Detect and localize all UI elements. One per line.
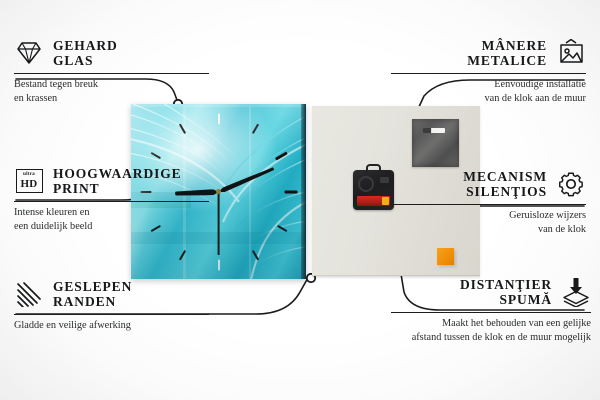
feature-title-line1: GESLEPEN bbox=[53, 279, 132, 294]
feature-desc-line2: van de klok bbox=[538, 224, 586, 235]
feature-description: Intense kleuren en een duidelijk beeld bbox=[14, 206, 209, 234]
clock-mechanism-box bbox=[353, 170, 394, 210]
feature-title: DISTANŢIER SPUMĂ bbox=[460, 277, 552, 307]
feature-header: ultra HD HOOGWAARDIGE PRINT bbox=[14, 164, 209, 198]
beveled-edges-icon bbox=[14, 279, 44, 309]
feature-mecanism-silentios: MECANISM SILENŢIOS Geruisloze wijzers va… bbox=[391, 167, 586, 237]
feature-hoogwaardige-print: ultra HD HOOGWAARDIGE PRINT Intense kleu… bbox=[14, 164, 209, 234]
gear-icon bbox=[556, 169, 586, 199]
tick-mark-6 bbox=[218, 259, 220, 270]
feature-title-line2: GLAS bbox=[53, 53, 93, 68]
feature-desc-line1: Maakt het behouden van een gelijke bbox=[442, 318, 591, 329]
feature-title: MÂNERE METALICE bbox=[467, 38, 547, 68]
foam-spacer bbox=[437, 248, 454, 265]
battery-terminal bbox=[382, 197, 389, 205]
feature-header: DISTANŢIER SPUMĂ bbox=[391, 275, 591, 309]
feature-desc-line1: Geruisloze wijzers bbox=[509, 210, 586, 221]
feature-divider bbox=[391, 204, 586, 205]
feature-desc-line1: Bestand tegen breuk bbox=[14, 79, 98, 90]
feature-desc-line1: Eenvoudige installatie bbox=[494, 79, 586, 90]
feature-desc-line2: een duidelijk beeld bbox=[14, 221, 92, 232]
feature-title-line2: SILENŢIOS bbox=[466, 184, 547, 199]
feature-desc-line2: van de klok aan de muur bbox=[484, 93, 586, 104]
feature-description: Bestand tegen breuk en krassen bbox=[14, 78, 209, 106]
spacer-stack-arrow-icon bbox=[561, 277, 591, 307]
clock-right-edge bbox=[301, 104, 306, 279]
feature-desc-line1: Gladde en veilige afwerking bbox=[14, 320, 131, 331]
hd-badge: ultra HD bbox=[16, 169, 43, 193]
feature-desc-line2: en krassen bbox=[14, 93, 57, 104]
tick-mark-12 bbox=[218, 113, 220, 124]
feature-title: GESLEPEN RANDEN bbox=[53, 279, 132, 309]
diamond-icon bbox=[14, 38, 44, 68]
hd-badge-ultra-label: ultra bbox=[23, 172, 35, 177]
feature-description: Eenvoudige installatie van de klok aan d… bbox=[391, 78, 586, 106]
clock-center-cap bbox=[216, 189, 221, 194]
feature-header: MECANISM SILENŢIOS bbox=[391, 167, 586, 201]
feature-title: MECANISM SILENŢIOS bbox=[463, 169, 547, 199]
feature-title-line1: DISTANŢIER bbox=[460, 277, 552, 292]
feature-description: Maakt het behouden van een gelijke afsta… bbox=[391, 317, 591, 345]
feature-gehard-glas: GEHARD GLAS Bestand tegen breuk en krass… bbox=[14, 36, 209, 106]
feature-header: GESLEPEN RANDEN bbox=[14, 277, 209, 311]
feature-title: HOOGWAARDIGE PRINT bbox=[53, 166, 182, 196]
feature-title-line2: PRINT bbox=[53, 181, 100, 196]
wall-hanging-frame-icon bbox=[556, 38, 586, 68]
ultra-hd-badge-icon: ultra HD bbox=[14, 166, 44, 196]
feature-header: MÂNERE METALICE bbox=[391, 36, 586, 70]
feature-distantier-spuma: DISTANŢIER SPUMĂ Maakt het behouden van … bbox=[391, 275, 591, 345]
feature-divider bbox=[391, 73, 586, 74]
feature-description: Geruisloze wijzers van de klok bbox=[391, 209, 586, 237]
feature-desc-line2: afstand tussen de klok en de muur mogeli… bbox=[412, 332, 591, 343]
feature-title: GEHARD GLAS bbox=[53, 38, 118, 68]
feature-title-line1: HOOGWAARDIGE bbox=[53, 166, 182, 181]
mechanism-dial bbox=[358, 176, 374, 192]
mechanism-hanging-loop bbox=[366, 164, 381, 174]
product-feature-infographic: GEHARD GLAS Bestand tegen breuk en krass… bbox=[0, 0, 600, 400]
metal-hanger-plate bbox=[412, 119, 459, 167]
feature-divider bbox=[14, 314, 209, 315]
feature-desc-line1: Intense kleuren en bbox=[14, 207, 89, 218]
feature-geslepen-randen: GESLEPEN RANDEN Gladde en veilige afwerk… bbox=[14, 277, 209, 333]
feature-title-line1: GEHARD bbox=[53, 38, 118, 53]
mechanism-port bbox=[380, 177, 389, 183]
clock-second-hand bbox=[218, 192, 220, 255]
feature-divider bbox=[14, 201, 209, 202]
feature-divider bbox=[391, 312, 591, 313]
feature-title-line2: METALICE bbox=[467, 53, 547, 68]
feature-title-line2: SPUMĂ bbox=[500, 292, 553, 307]
tick-mark-3 bbox=[284, 190, 297, 193]
feature-divider bbox=[14, 73, 209, 74]
feature-title-line2: RANDEN bbox=[53, 294, 116, 309]
feature-header: GEHARD GLAS bbox=[14, 36, 209, 70]
feature-title-line1: MECANISM bbox=[463, 169, 547, 184]
hd-badge-hd-label: HD bbox=[21, 179, 38, 190]
feature-title-line1: MÂNERE bbox=[482, 38, 547, 53]
feature-manere-metalice: MÂNERE METALICE Eenvoudige installatie v… bbox=[391, 36, 586, 106]
battery bbox=[357, 196, 390, 206]
hanger-slot bbox=[423, 128, 445, 133]
feature-description: Gladde en veilige afwerking bbox=[14, 319, 209, 333]
